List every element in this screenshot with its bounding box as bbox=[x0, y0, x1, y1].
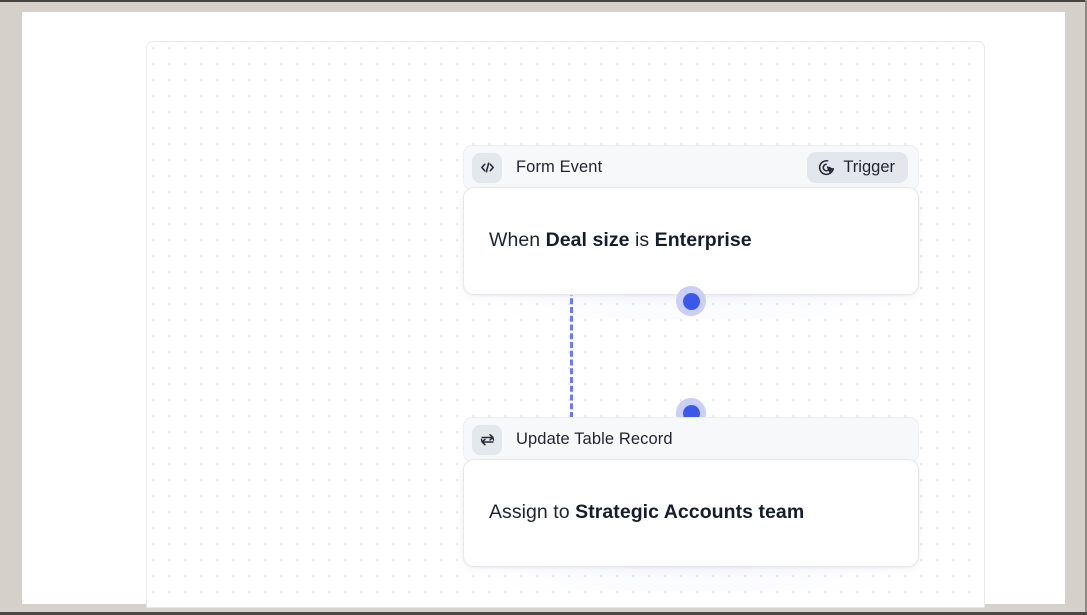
node-header[interactable]: Update Table Record bbox=[463, 417, 919, 462]
node-title: Update Table Record bbox=[516, 430, 673, 449]
node-title: Form Event bbox=[516, 158, 602, 177]
node-header[interactable]: Form Event Trigger bbox=[463, 145, 919, 190]
trigger-badge-label: Trigger bbox=[843, 158, 895, 177]
node-body-text: Assign to Strategic Accounts team bbox=[489, 500, 804, 525]
trigger-badge[interactable]: Trigger bbox=[807, 152, 908, 183]
node-body-field: Deal size bbox=[546, 229, 630, 251]
repeat-sync-icon bbox=[472, 425, 502, 455]
connector-dot-output[interactable] bbox=[676, 286, 706, 316]
node-body-prefix: When bbox=[489, 229, 546, 251]
workflow-canvas[interactable]: Form Event Trigger bbox=[146, 41, 985, 608]
node-body-value: Enterprise bbox=[655, 229, 752, 251]
node-body-middle: is bbox=[630, 229, 655, 251]
node-body[interactable]: Assign to Strategic Accounts team bbox=[463, 459, 919, 567]
node-body-value: Strategic Accounts team bbox=[575, 501, 804, 523]
code-brackets-icon bbox=[472, 153, 502, 183]
workflow-node-update-table-record[interactable]: Update Table Record Assign to Strategic … bbox=[463, 417, 919, 567]
node-body-text: When Deal size is Enterprise bbox=[489, 228, 752, 253]
frame-top-edge bbox=[0, 0, 1087, 2]
node-body-prefix: Assign to bbox=[489, 501, 575, 523]
workflow-node-form-event[interactable]: Form Event Trigger bbox=[463, 145, 919, 295]
node-body[interactable]: When Deal size is Enterprise bbox=[463, 187, 919, 295]
trigger-target-cursor-icon bbox=[817, 158, 836, 177]
page-surface: Form Event Trigger bbox=[22, 12, 1065, 604]
window-frame: Form Event Trigger bbox=[0, 0, 1087, 615]
